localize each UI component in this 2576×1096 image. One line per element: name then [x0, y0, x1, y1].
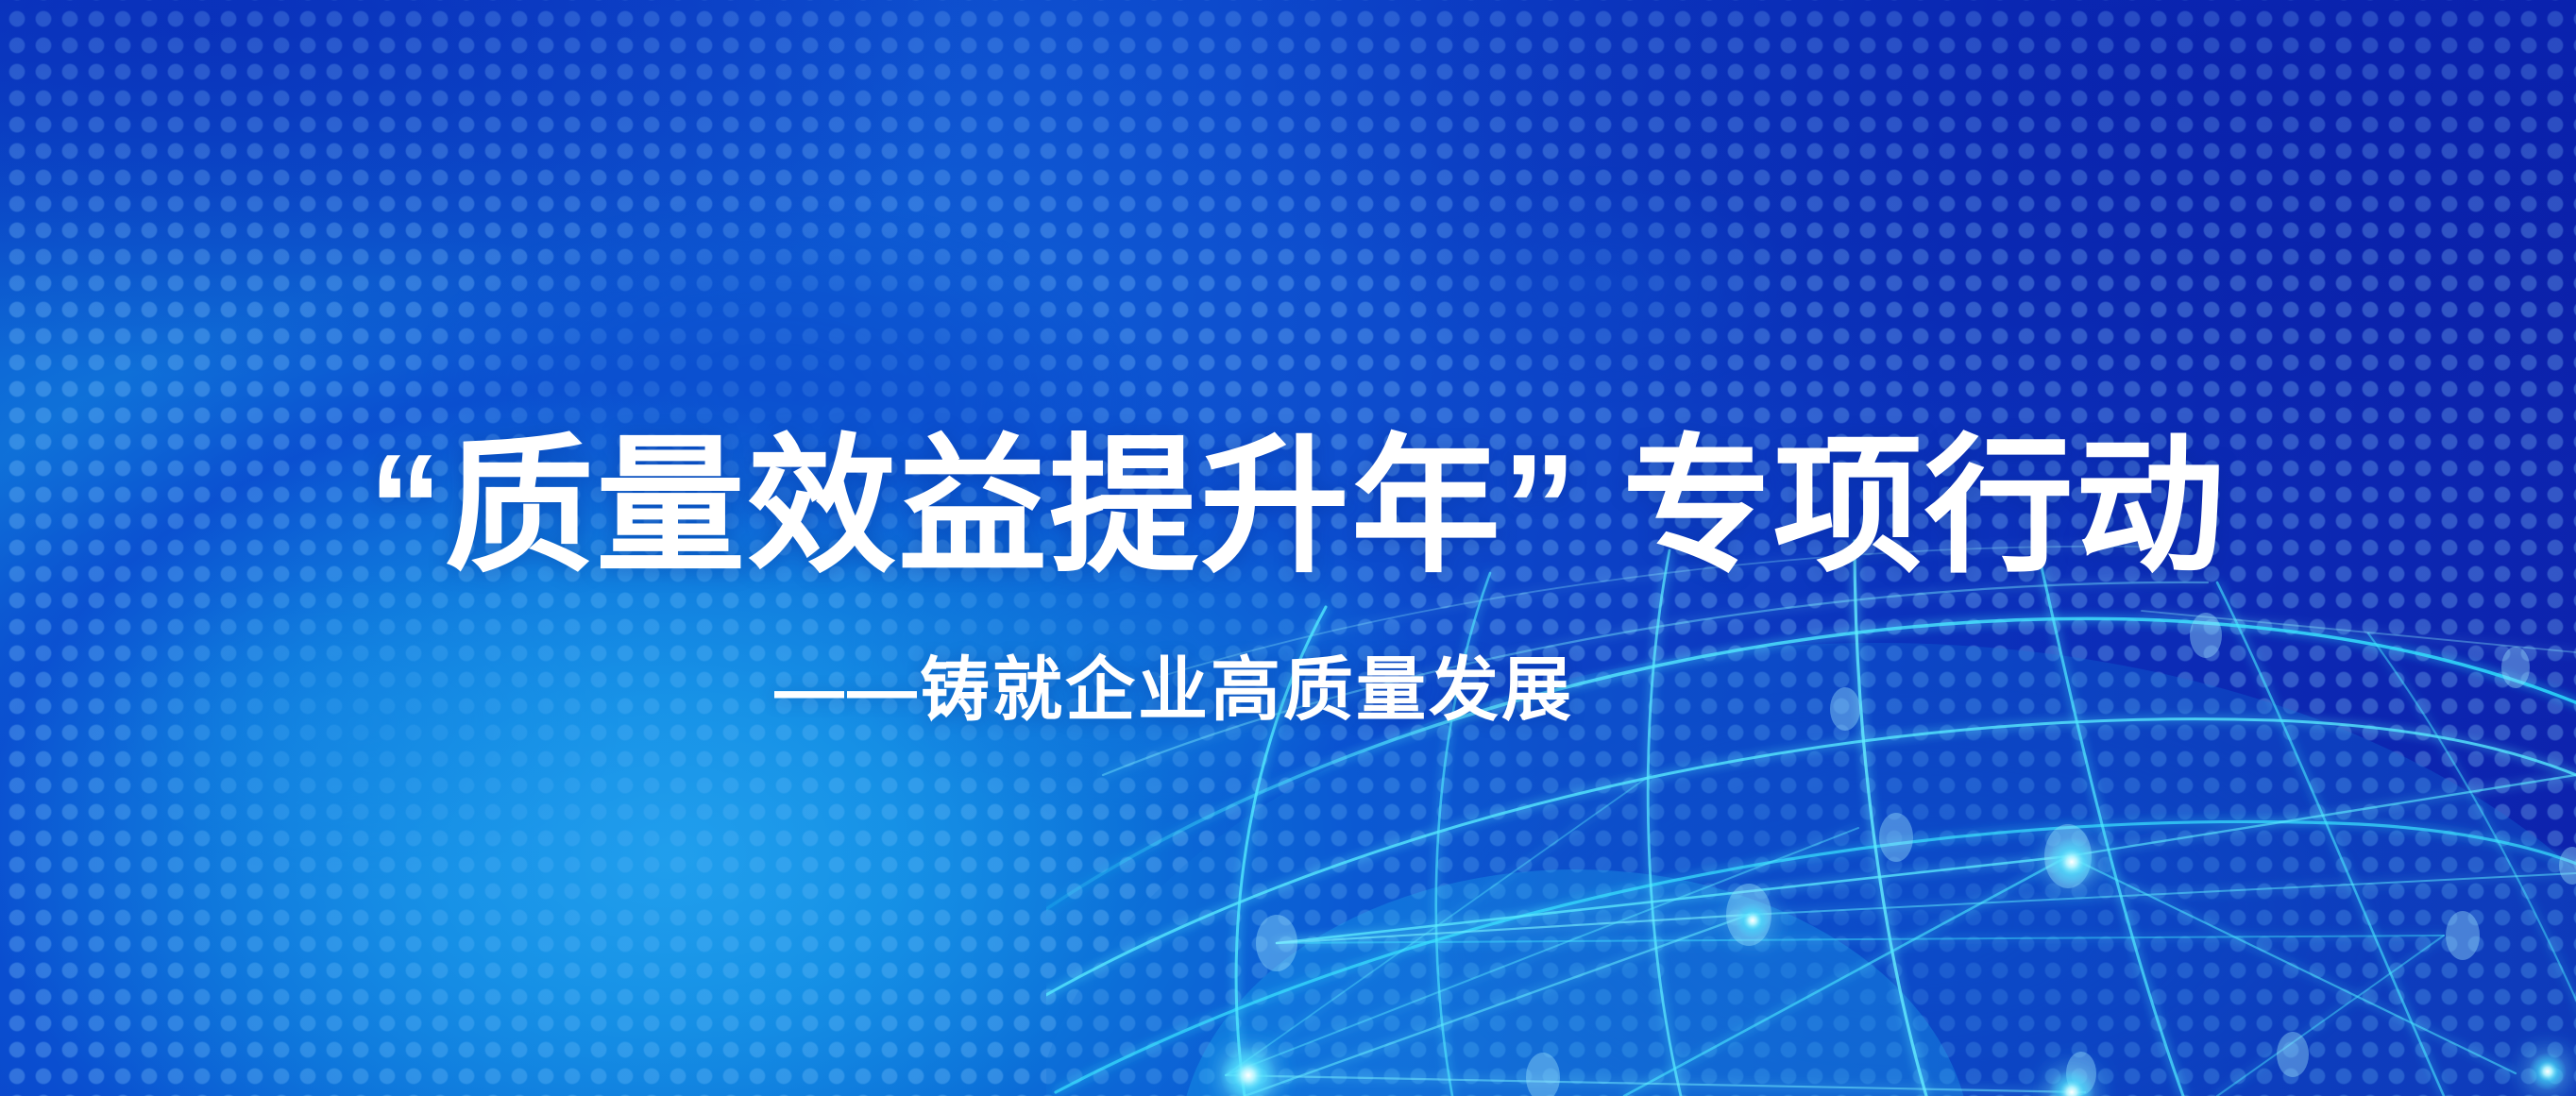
- banner-subtitle: ——铸就企业高质量发展: [774, 651, 1574, 728]
- banner-copy: “质量效益提升年” 专项行动 ——铸就企业高质量发展: [0, 0, 2576, 1096]
- banner-title: “质量效益提升年” 专项行动: [368, 430, 2227, 586]
- promotional-banner: “质量效益提升年” 专项行动 ——铸就企业高质量发展: [0, 0, 2576, 1096]
